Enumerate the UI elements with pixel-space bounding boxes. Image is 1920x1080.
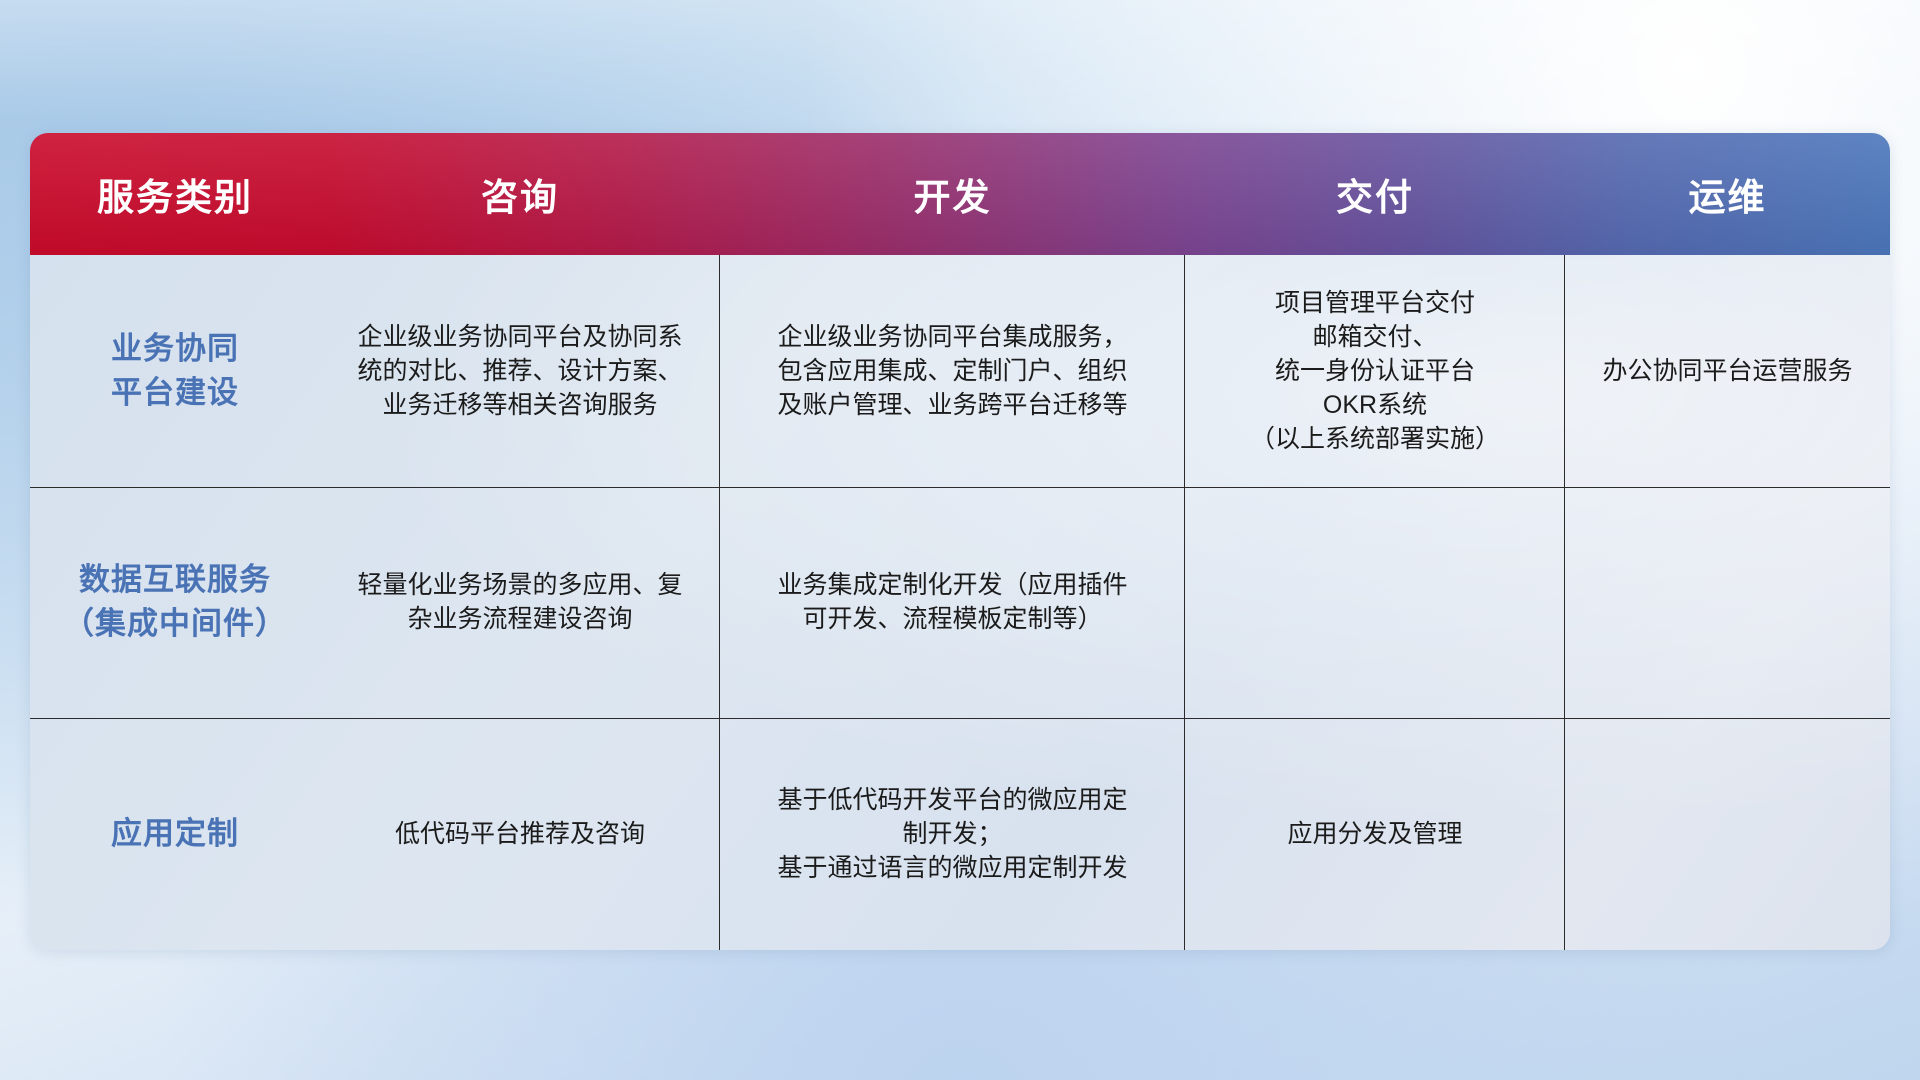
cell-consulting-1: 企业级业务协同平台及协同系 统的对比、推荐、设计方案、 业务迁移等相关咨询服务 (320, 255, 720, 487)
cell-development-2: 业务集成定制化开发（应用插件 可开发、流程模板定制等） (720, 487, 1185, 719)
column-header-delivery: 交付 (1185, 133, 1565, 255)
cell-delivery-3: 应用分发及管理 (1185, 718, 1565, 950)
cell-operations-3 (1565, 718, 1890, 950)
service-matrix-table: 服务类别 咨询 开发 交付 运维 业务协同 平台建设 企业级业务协同平台及协同系… (30, 133, 1890, 950)
cell-consulting-2: 轻量化业务场景的多应用、复 杂业务流程建设咨询 (320, 487, 720, 719)
background-sheen (0, 0, 1920, 120)
table-row: 应用定制 低代码平台推荐及咨询 基于低代码开发平台的微应用定 制开发； 基于通过… (30, 718, 1890, 950)
cell-category-1: 业务协同 平台建设 (30, 255, 320, 487)
cell-operations-2 (1565, 487, 1890, 719)
column-header-development: 开发 (720, 133, 1185, 255)
table-header-row: 服务类别 咨询 开发 交付 运维 (30, 133, 1890, 255)
table-row: 数据互联服务 （集成中间件） 轻量化业务场景的多应用、复 杂业务流程建设咨询 业… (30, 487, 1890, 719)
cell-delivery-2 (1185, 487, 1565, 719)
cell-category-2: 数据互联服务 （集成中间件） (30, 487, 320, 719)
table-row: 业务协同 平台建设 企业级业务协同平台及协同系 统的对比、推荐、设计方案、 业务… (30, 255, 1890, 487)
cell-development-1: 企业级业务协同平台集成服务， 包含应用集成、定制门户、组织 及账户管理、业务跨平… (720, 255, 1185, 487)
column-header-consulting: 咨询 (320, 133, 720, 255)
cell-operations-1: 办公协同平台运营服务 (1565, 255, 1890, 487)
cell-development-3: 基于低代码开发平台的微应用定 制开发； 基于通过语言的微应用定制开发 (720, 718, 1185, 950)
cell-consulting-3: 低代码平台推荐及咨询 (320, 718, 720, 950)
column-header-operations: 运维 (1565, 133, 1890, 255)
cell-category-3: 应用定制 (30, 718, 320, 950)
table-body: 业务协同 平台建设 企业级业务协同平台及协同系 统的对比、推荐、设计方案、 业务… (30, 255, 1890, 950)
column-header-category: 服务类别 (30, 133, 320, 255)
cell-delivery-1: 项目管理平台交付 邮箱交付、 统一身份认证平台 OKR系统 （以上系统部署实施） (1185, 255, 1565, 487)
